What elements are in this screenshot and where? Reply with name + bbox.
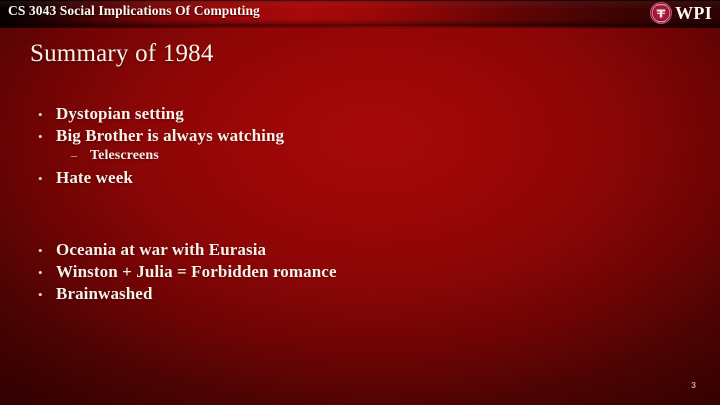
bullet-blank-line	[30, 212, 670, 240]
svg-text:WORCESTER: WORCESTER	[656, 5, 667, 7]
bullet-marker-icon: •	[30, 172, 56, 185]
wpi-wordmark: WPI	[675, 4, 712, 22]
header-underline	[0, 26, 720, 28]
bullet-item: • Big Brother is always watching	[30, 126, 670, 148]
bullet-item: • Dystopian setting	[30, 104, 670, 126]
bullet-marker-icon: •	[30, 244, 56, 257]
bullet-text: Hate week	[56, 168, 133, 188]
sub-bullet-item: – Telescreens	[30, 148, 670, 168]
sub-bullet-marker-icon: –	[64, 149, 90, 161]
bullet-item: • Oceania at war with Eurasia	[30, 240, 670, 262]
wpi-seal-icon: WORCESTER INSTITUTE	[650, 2, 672, 24]
bullet-blank-line	[30, 190, 670, 212]
bullet-marker-icon: •	[30, 288, 56, 301]
bullet-marker-icon: •	[30, 130, 56, 143]
bullet-item: • Winston + Julia = Forbidden romance	[30, 262, 670, 284]
sub-bullet-text: Telescreens	[90, 148, 159, 164]
bullet-marker-icon: •	[30, 266, 56, 279]
slide-body: • Dystopian setting • Big Brother is alw…	[30, 104, 670, 306]
bullet-item: • Brainwashed	[30, 284, 670, 306]
presentation-slide: CS 3043 Social Implications Of Computing…	[0, 0, 720, 405]
slide-title: Summary of 1984	[30, 40, 214, 68]
bullet-marker-icon: •	[30, 108, 56, 121]
bullet-text: Oceania at war with Eurasia	[56, 240, 266, 260]
bullet-text: Dystopian setting	[56, 104, 184, 124]
bullet-text: Big Brother is always watching	[56, 126, 284, 146]
course-title: CS 3043 Social Implications Of Computing	[8, 3, 260, 19]
page-number: 3	[691, 380, 696, 390]
bullet-text: Brainwashed	[56, 284, 153, 304]
wpi-logo: WORCESTER INSTITUTE WPI	[650, 1, 712, 25]
bullet-item: • Hate week	[30, 168, 670, 190]
bullet-text: Winston + Julia = Forbidden romance	[56, 262, 337, 282]
svg-text:INSTITUTE: INSTITUTE	[657, 22, 666, 24]
